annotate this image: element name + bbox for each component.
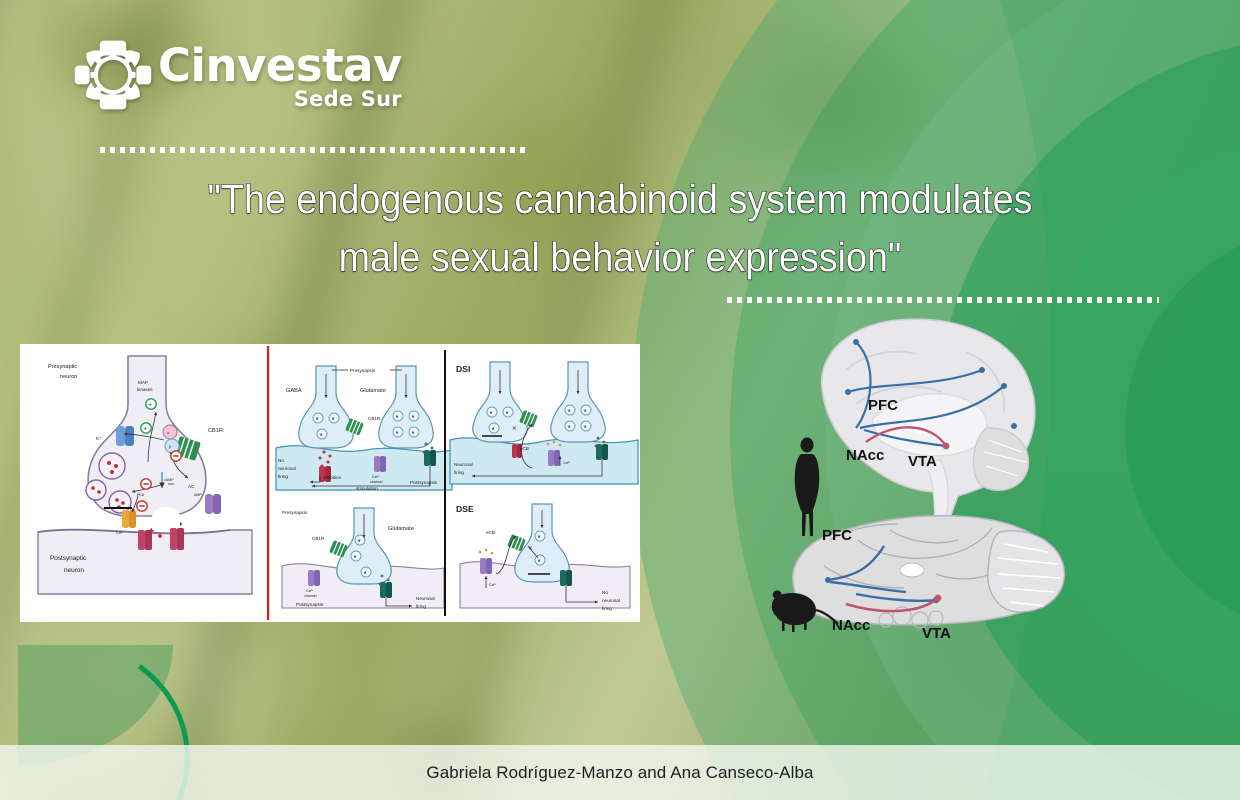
label-ecb-dse: eCB — [486, 530, 495, 535]
svg-text:neuron: neuron — [60, 374, 77, 380]
cinvestav-emblem-icon — [74, 36, 152, 114]
page-title: "The endogenous cannabinoid system modul… — [160, 170, 1080, 286]
svg-text:❦: ❦ — [568, 424, 571, 429]
svg-text:β: β — [169, 445, 171, 449]
figure-panel-c-dsi: ❦❦❦ ✕ ❦ — [450, 354, 638, 484]
svg-text:❦: ❦ — [332, 416, 335, 421]
label-ecb-dsi: eCB — [520, 446, 529, 451]
logo-title: Cinvestav — [158, 43, 402, 88]
rodent-brain-diagram: PFC NAcc VTA — [772, 516, 1065, 642]
svg-text:✕: ✕ — [528, 546, 533, 552]
svg-text:neuronal: neuronal — [602, 598, 620, 603]
svg-text:AC: AC — [188, 484, 195, 489]
svg-text:❦: ❦ — [358, 538, 361, 543]
logo-subtitle: Sede Sur — [158, 89, 402, 110]
svg-text:Ca²⁺: Ca²⁺ — [116, 531, 124, 535]
svg-text:❦: ❦ — [354, 554, 357, 559]
svg-text:❦: ❦ — [568, 408, 571, 413]
svg-text:❦: ❦ — [584, 424, 587, 429]
label-presynaptic-neuron: Presynaptic — [48, 364, 77, 370]
cinvestav-logo: Cinvestav Sede Sur — [74, 36, 402, 114]
label-glutamate-bottom: Glutamate — [388, 526, 414, 532]
svg-text:Presynapsis: Presynapsis — [350, 368, 376, 373]
label-dsi: DSI — [456, 364, 470, 374]
label-glutamate-top: Glutamate — [360, 388, 386, 394]
svg-text:kinases: kinases — [137, 387, 153, 392]
svg-text:MAP: MAP — [138, 380, 148, 385]
figure-panel-d-dse: ❦❦ ✕ Ca²⁺ eC — [450, 494, 638, 618]
label-presynapsis-bottom: Presynapsis — [282, 510, 308, 515]
svg-text:+: + — [143, 426, 147, 432]
endocannabinoid-synapse-figure: .ft{font-family:"Liberation Sans",sans-s… — [20, 344, 640, 622]
label-dse: DSE — [456, 504, 474, 514]
svg-text:channel: channel — [370, 480, 383, 484]
svg-text:+: + — [148, 402, 152, 408]
figure-panel-b-bottom: ❦❦❦ Ca²⁺ channel — [276, 500, 452, 618]
svg-text:channel: channel — [304, 594, 317, 598]
label-human-nacc: NAcc — [846, 447, 884, 464]
label-rodent-vta: VTA — [922, 625, 951, 642]
label-gaba: GABA — [286, 388, 302, 394]
svg-text:❦: ❦ — [412, 414, 415, 419]
svg-text:firing: firing — [416, 604, 426, 609]
svg-text:K⁺: K⁺ — [96, 436, 102, 441]
poster-slide: Cinvestav Sede Sur "The endogenous canna… — [0, 0, 1240, 800]
label-cb1r-b: CB1R — [368, 416, 381, 421]
svg-text:❦: ❦ — [492, 426, 495, 431]
dotted-rule-top — [100, 147, 530, 153]
label-postsynapsis-bottom: Postsynapsis — [296, 602, 324, 607]
label-inhibition: inhibition — [323, 475, 342, 480]
figure-panel-b-top: ❦❦❦ — [276, 358, 452, 491]
label-cb1r-a: CB1R — [208, 428, 223, 434]
svg-text:AMP: AMP — [194, 493, 202, 497]
svg-text:Ca²⁺: Ca²⁺ — [489, 583, 497, 587]
svg-text:❦: ❦ — [412, 430, 415, 435]
reward-pathway-brains: .bl{font-family:"Liberation Sans",sans-s… — [760, 300, 1090, 670]
svg-text:Ca²⁺: Ca²⁺ — [306, 589, 314, 593]
label-rodent-nacc: NAcc — [832, 617, 870, 634]
svg-text:firing: firing — [602, 606, 612, 611]
svg-text:❦: ❦ — [538, 558, 541, 563]
svg-text:firing: firing — [454, 470, 464, 475]
svg-text:PKA: PKA — [137, 493, 145, 497]
svg-text:❦: ❦ — [316, 416, 319, 421]
svg-text:No: No — [602, 590, 608, 595]
label-human-vta: VTA — [908, 453, 937, 470]
divider-red — [267, 346, 269, 620]
divider-black — [444, 350, 446, 616]
svg-text:✕: ✕ — [512, 426, 517, 432]
svg-text:Neuronal: Neuronal — [416, 596, 435, 601]
footer-authors: Gabriela Rodríguez-Manzo and Ana Canseco… — [0, 745, 1240, 800]
human-brain-diagram: PFC NAcc VTA — [795, 319, 1035, 536]
svg-text:❦: ❦ — [506, 410, 509, 415]
svg-text:❦: ❦ — [490, 410, 493, 415]
svg-text:neuronal: neuronal — [278, 466, 296, 471]
svg-text:No: No — [278, 458, 284, 463]
svg-text:❦: ❦ — [320, 432, 323, 437]
svg-text:Ca²⁺: Ca²⁺ — [563, 461, 571, 465]
svg-text:❦: ❦ — [364, 570, 367, 575]
svg-text:cAMP: cAMP — [164, 478, 174, 482]
svg-text:α: α — [167, 431, 169, 435]
human-silhouette-icon — [795, 438, 820, 537]
svg-text:❦: ❦ — [584, 408, 587, 413]
svg-text:❦: ❦ — [538, 534, 541, 539]
label-human-pfc: PFC — [868, 397, 898, 414]
label-postsynaptic-neuron: Postsynaptic — [50, 555, 87, 562]
label-postsynapsis-top: Postsynapsis — [410, 480, 438, 485]
svg-text:firing: firing — [278, 474, 288, 479]
label-rodent-pfc: PFC — [822, 527, 852, 544]
svg-text:Neuronal: Neuronal — [454, 462, 473, 467]
svg-text:❦: ❦ — [396, 430, 399, 435]
svg-text:neuron: neuron — [64, 567, 84, 574]
svg-text:❦: ❦ — [396, 414, 399, 419]
label-cb1r-c: CB1R — [312, 536, 325, 541]
svg-text:Ca²⁺: Ca²⁺ — [372, 475, 380, 479]
label-stimulation: stimulation — [356, 486, 378, 491]
